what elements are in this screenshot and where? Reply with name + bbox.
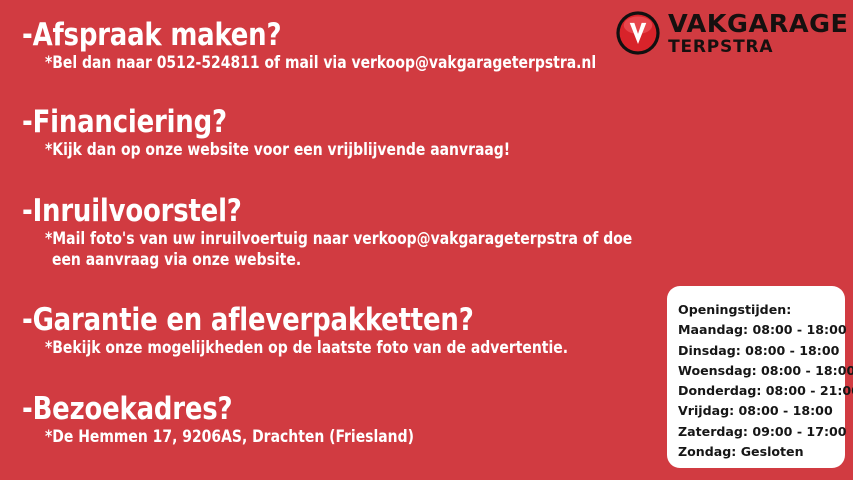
vakgarage-logo: VAKGARAGE TERPSTRA xyxy=(615,10,845,56)
section-detail-line: *Mail foto's van uw inruilvoertuig naar … xyxy=(45,228,632,250)
opening-hours-title: Openingstijden: xyxy=(678,300,845,320)
section-garantie: -Garantie en afleverpakketten? *Bekijk o… xyxy=(22,305,601,358)
logo-dealer-name: TERPSTRA xyxy=(668,39,845,56)
opening-hours-row: Woensdag: 08:00 - 18:00 xyxy=(678,361,845,381)
opening-hours-row: Dinsdag: 08:00 - 18:00 xyxy=(678,341,845,361)
section-heading: -Afspraak maken? xyxy=(22,20,589,52)
section-heading: -Financiering? xyxy=(22,107,504,139)
advertisement-poster: VAKGARAGE TERPSTRA -Afspraak maken? *Bel… xyxy=(0,0,853,480)
section-afspraak: -Afspraak maken? *Bel dan naar 0512-5248… xyxy=(22,20,631,73)
opening-hours-row: Zaterdag: 09:00 - 17:00 xyxy=(678,422,845,442)
section-inruilvoorstel: -Inruilvoorstel? *Mail foto's van uw inr… xyxy=(22,196,670,271)
section-heading: -Garantie en afleverpakketten? xyxy=(22,305,561,337)
section-bezoekadres: -Bezoekadres? *De Hemmen 17, 9206AS, Dra… xyxy=(22,394,438,447)
opening-hours-row: Maandag: 08:00 - 18:00 xyxy=(678,320,845,340)
section-detail-line: *Kijk dan op onze website voor een vrijb… xyxy=(45,139,510,161)
section-heading: -Inruilvoorstel? xyxy=(22,196,624,228)
opening-hours-row: Vrijdag: 08:00 - 18:00 xyxy=(678,401,845,421)
section-detail-line: *Bekijk onze mogelijkheden op de laatste… xyxy=(45,337,568,359)
logo-brand-name: VAKGARAGE xyxy=(668,11,848,36)
opening-hours-card: Openingstijden: Maandag: 08:00 - 18:00 D… xyxy=(667,286,845,468)
section-detail-line: *De Hemmen 17, 9206AS, Drachten (Friesla… xyxy=(45,426,414,448)
opening-hours-row: Donderdag: 08:00 - 21:00 xyxy=(678,381,845,401)
section-heading: -Bezoekadres? xyxy=(22,394,408,426)
logo-wordmark: VAKGARAGE TERPSTRA xyxy=(668,11,845,56)
section-detail-line-2: een aanvraag via onze website. xyxy=(52,249,633,271)
opening-hours-row: Zondag: Gesloten xyxy=(678,442,845,462)
section-financiering: -Financiering? *Kijk dan op onze website… xyxy=(22,107,540,160)
section-detail-line: *Bel dan naar 0512-524811 of mail via ve… xyxy=(45,52,596,74)
